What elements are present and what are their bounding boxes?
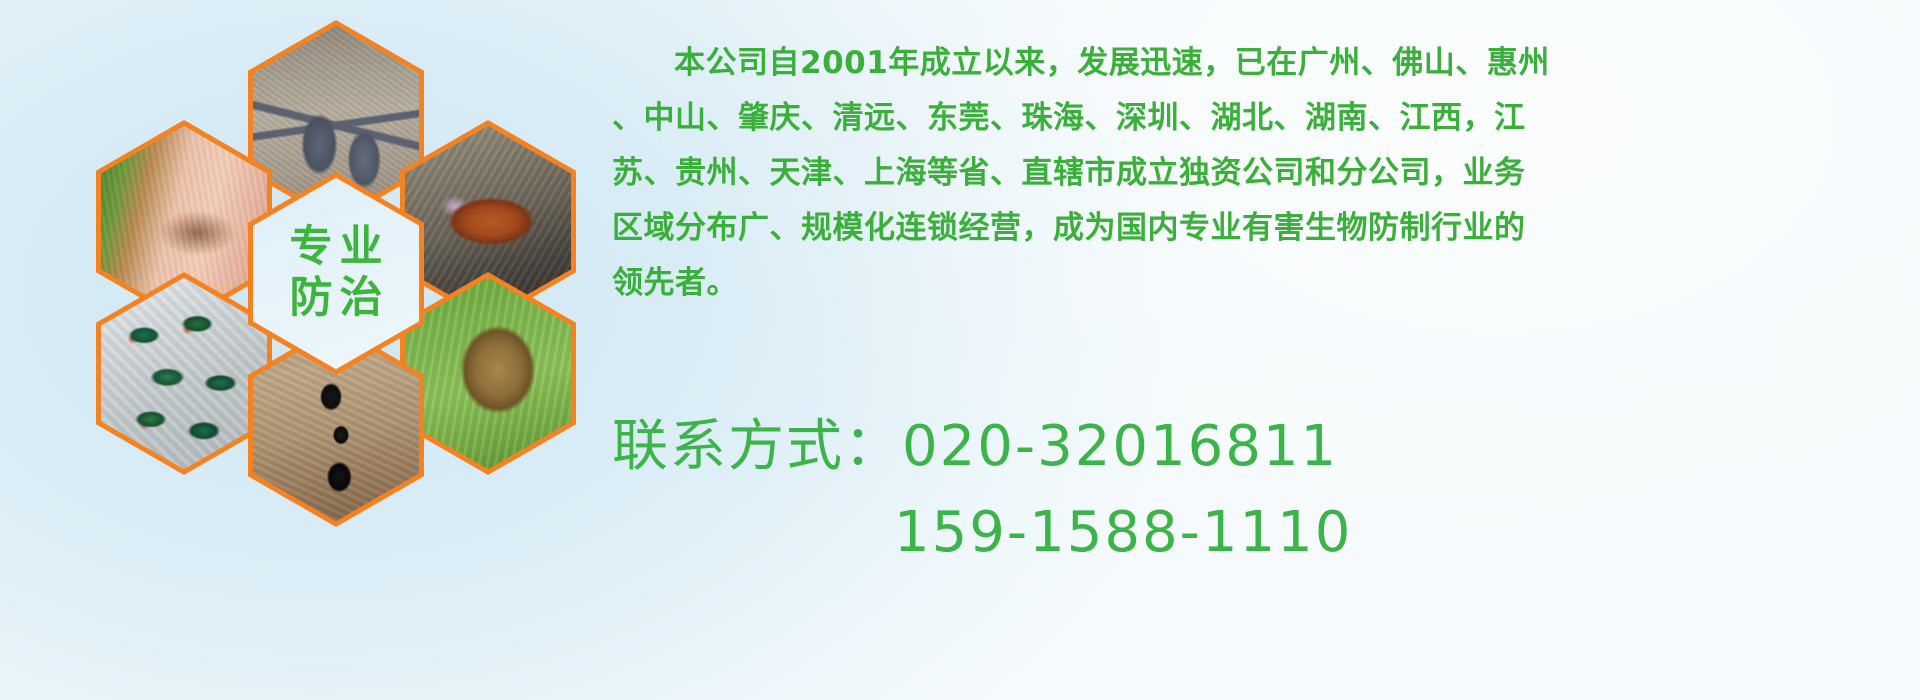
hexagon-photo-cluster: 专业 防治	[96, 0, 596, 572]
logo-line-1: 专业	[283, 226, 390, 269]
promo-banner: 专业 防治 本公司自2001年成立以来，发展迅速，已在广州、佛山、惠州 、中山、…	[0, 0, 1920, 700]
hex-inner-logo: 专业 防治	[253, 178, 419, 369]
intro-line-1: 本公司自2001年成立以来，发展迅速，已在广州、佛山、惠州	[612, 36, 1912, 91]
hex-inner-flies	[101, 278, 267, 469]
intro-line-3: 苏、贵州、天津、上海等省、直辖市成立独资公司和分公司，业务	[612, 146, 1912, 201]
copy-column: 本公司自2001年成立以来，发展迅速，已在广州、佛山、惠州 、中山、肇庆、清远、…	[612, 36, 1912, 311]
intro-line-2: 、中山、肇庆、清远、东莞、珠海、深圳、湖北、湖南、江西，江	[612, 91, 1912, 146]
contact-block: 联系方式：020-32016811 159-1588-1110	[612, 404, 1912, 576]
flies-photo	[101, 278, 267, 469]
hex-logo-center: 专业 防治	[248, 172, 424, 375]
intro-line-5: 领先者。	[612, 256, 1912, 311]
hex-photo-stink-bug	[400, 272, 576, 475]
logo-line-2: 防治	[283, 277, 390, 320]
stink-bug-photo	[405, 278, 571, 469]
hex-photo-flies	[96, 272, 272, 475]
contact-landline[interactable]: 联系方式：020-32016811	[612, 404, 1912, 490]
intro-line-4: 区域分布广、规模化连锁经营，成为国内专业有害生物防制行业的	[612, 201, 1912, 256]
contact-mobile[interactable]: 159-1588-1110	[612, 490, 1912, 576]
intro-paragraph: 本公司自2001年成立以来，发展迅速，已在广州、佛山、惠州 、中山、肇庆、清远、…	[612, 36, 1912, 311]
hex-inner-stink-bug	[405, 278, 571, 469]
